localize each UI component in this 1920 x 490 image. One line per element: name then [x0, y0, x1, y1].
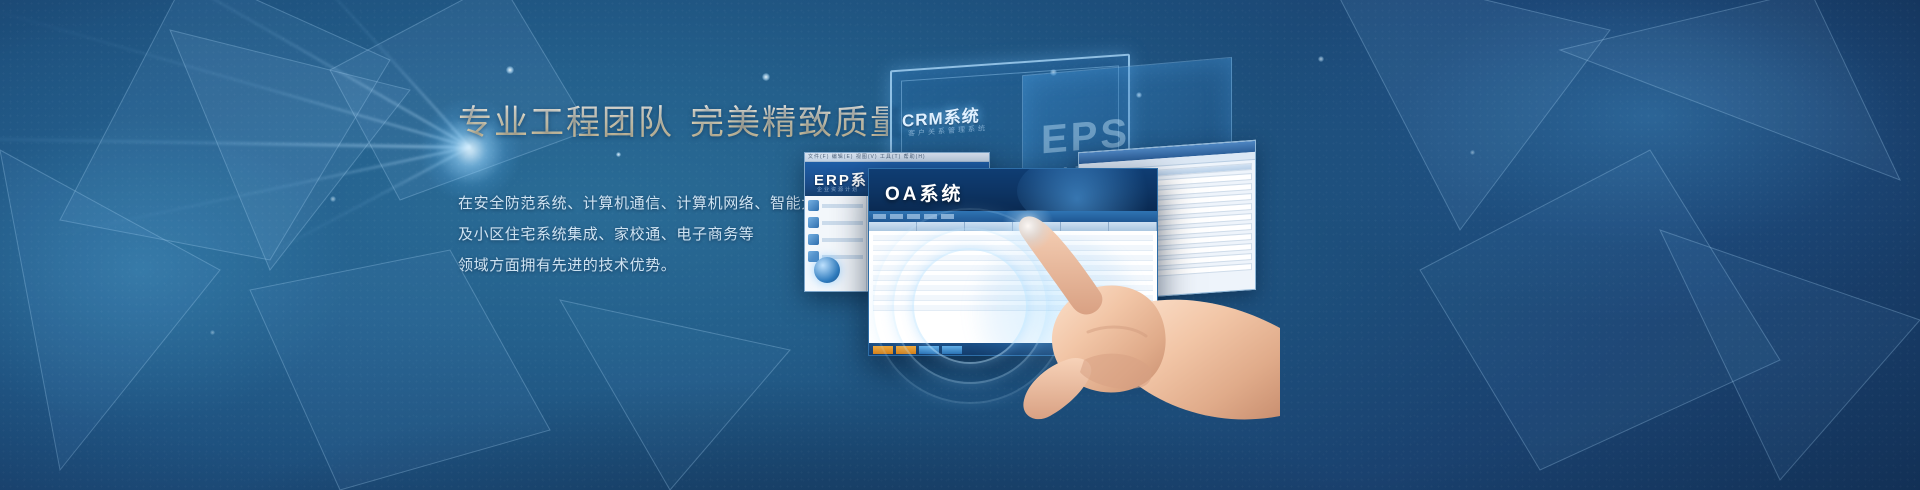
oa-window-title: OA系统 [885, 179, 964, 206]
sidebar-item[interactable] [808, 234, 863, 245]
user-icon [808, 217, 819, 228]
oa-window-header: OA系统 [869, 169, 1157, 211]
oa-status-bar [869, 343, 1157, 356]
column-header [869, 222, 917, 231]
toolbar-button[interactable] [924, 214, 937, 219]
oa-toolbar[interactable] [869, 211, 1157, 222]
light-beam-1 [0, 135, 470, 149]
sidebar-item-label [822, 238, 863, 242]
column-header [965, 222, 1013, 231]
light-beam-2 [0, 3, 470, 148]
bokeh-dot [210, 330, 215, 335]
oa-header-glow [1017, 169, 1157, 211]
oa-table-header [869, 222, 1157, 231]
light-beam-6 [249, 146, 471, 265]
software-screens-collage: CRM系统 客户关系管理系统 EPS HAND [760, 0, 1560, 490]
sidebar-item-label [822, 204, 863, 208]
polygon-decoration-1 [60, 0, 480, 270]
banner-root: 专业工程团队完美精致质量 在安全防范系统、计算机通信、计算机网络、智能大厦 及小… [0, 0, 1920, 490]
polygon-decoration-4 [250, 250, 580, 490]
table-row [873, 275, 1153, 281]
polygon-decoration-9 [1640, 230, 1920, 490]
erp-window-subtitle: 企业资源计划 [817, 186, 859, 193]
polygon-decoration-3 [0, 150, 340, 490]
table-row [873, 255, 1153, 261]
status-badge [919, 346, 939, 354]
toolbar-button[interactable] [907, 214, 920, 219]
table-row [873, 295, 1153, 301]
status-badge [942, 346, 962, 354]
erp-window-menubar[interactable]: 文件(F) 编辑(E) 视图(V) 工具(T) 帮助(H) [805, 153, 989, 162]
oa-table-body [869, 231, 1157, 343]
column-header [1013, 222, 1061, 231]
chart-icon [808, 234, 819, 245]
table-row [873, 305, 1153, 311]
column-header [1109, 222, 1157, 231]
bokeh-dot [506, 66, 514, 74]
polygon-decoration-2 [150, 30, 450, 290]
table-row [873, 265, 1153, 271]
table-row [873, 235, 1153, 241]
status-badge [896, 346, 916, 354]
oa-window[interactable]: OA系统 [868, 168, 1158, 356]
light-beam-3 [0, 0, 470, 148]
sidebar-item[interactable] [808, 200, 863, 211]
light-beam-5 [269, 0, 471, 148]
bokeh-dot [330, 196, 336, 202]
sidebar-item[interactable] [808, 217, 863, 228]
light-beam-4 [49, 146, 470, 237]
toolbar-button[interactable] [941, 214, 954, 219]
column-header [917, 222, 965, 231]
folder-icon [808, 200, 819, 211]
column-header [1061, 222, 1109, 231]
globe-icon [814, 257, 840, 283]
table-row [873, 245, 1153, 251]
polygon-decoration-8 [1560, 0, 1920, 270]
headline-part-1: 专业工程团队 [458, 105, 674, 142]
status-badge [873, 346, 893, 354]
toolbar-button[interactable] [890, 214, 903, 219]
sidebar-item-label [822, 221, 863, 225]
table-row [873, 285, 1153, 291]
toolbar-button[interactable] [873, 214, 886, 219]
